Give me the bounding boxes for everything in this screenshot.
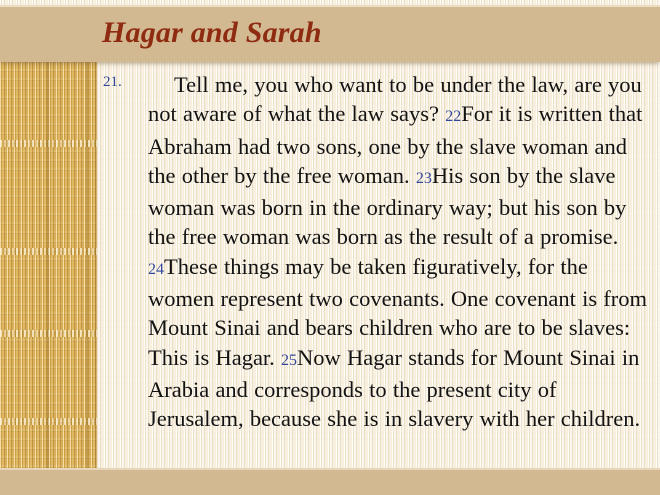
title-banner: Hagar and Sarah [0, 5, 660, 62]
list-marker-21: 21. [103, 73, 122, 91]
scripture-paragraph: Tell me, you who want to be under the la… [103, 70, 655, 434]
texture-seam [86, 62, 88, 468]
verse-number-25: 25 [281, 352, 297, 369]
verse-number-23: 23 [416, 170, 432, 187]
verse-number-24: 24 [148, 261, 164, 278]
verse-number-22: 22 [445, 108, 461, 125]
bottom-tan-band [0, 468, 660, 495]
scripture-body: 21. Tell me, you who want to be under th… [103, 70, 655, 434]
slide-canvas: Hagar and Sarah 21. Tell me, you who wan… [0, 0, 660, 495]
texture-right-edge [95, 62, 97, 468]
page-title: Hagar and Sarah [102, 14, 322, 52]
texture-seam [47, 62, 49, 468]
left-bamboo-texture-strip [0, 62, 97, 468]
